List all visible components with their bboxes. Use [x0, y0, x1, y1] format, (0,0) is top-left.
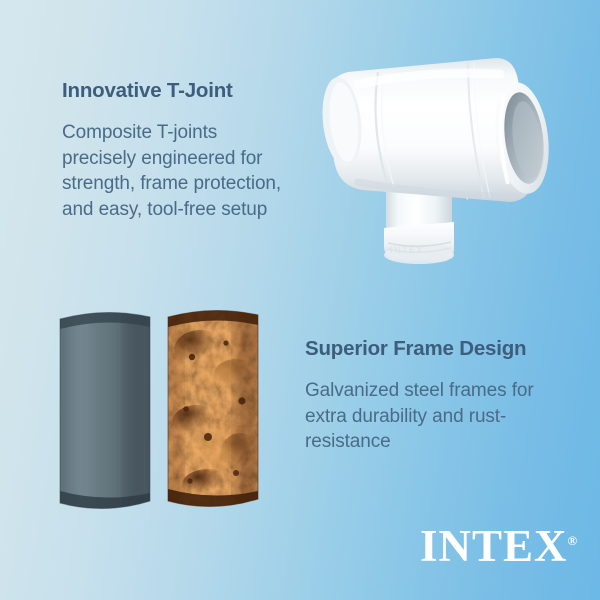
t-joint-illustration: INTEX — [318, 50, 568, 270]
pipe-comparison-illustration — [50, 305, 275, 525]
registered-trademark-icon: ® — [568, 533, 578, 548]
feature-body-t-joint: Composite T-joints precisely engineered … — [62, 120, 292, 222]
svg-text:INTEX: INTEX — [390, 245, 424, 255]
galvanized-pipe-sample — [50, 305, 160, 525]
intex-logo: INTEX® — [420, 524, 577, 569]
product-feature-infographic: INTEX — [0, 0, 600, 600]
feature-heading-frame: Superior Frame Design — [305, 337, 526, 361]
intex-wordmark: INTEX — [420, 521, 568, 571]
t-joint-svg: INTEX — [318, 50, 568, 270]
feature-heading-t-joint: Innovative T-Joint — [62, 79, 233, 103]
pipe-comparison-svg — [50, 305, 275, 525]
feature-body-frame: Galvanized steel frames for extra durabi… — [305, 378, 565, 455]
